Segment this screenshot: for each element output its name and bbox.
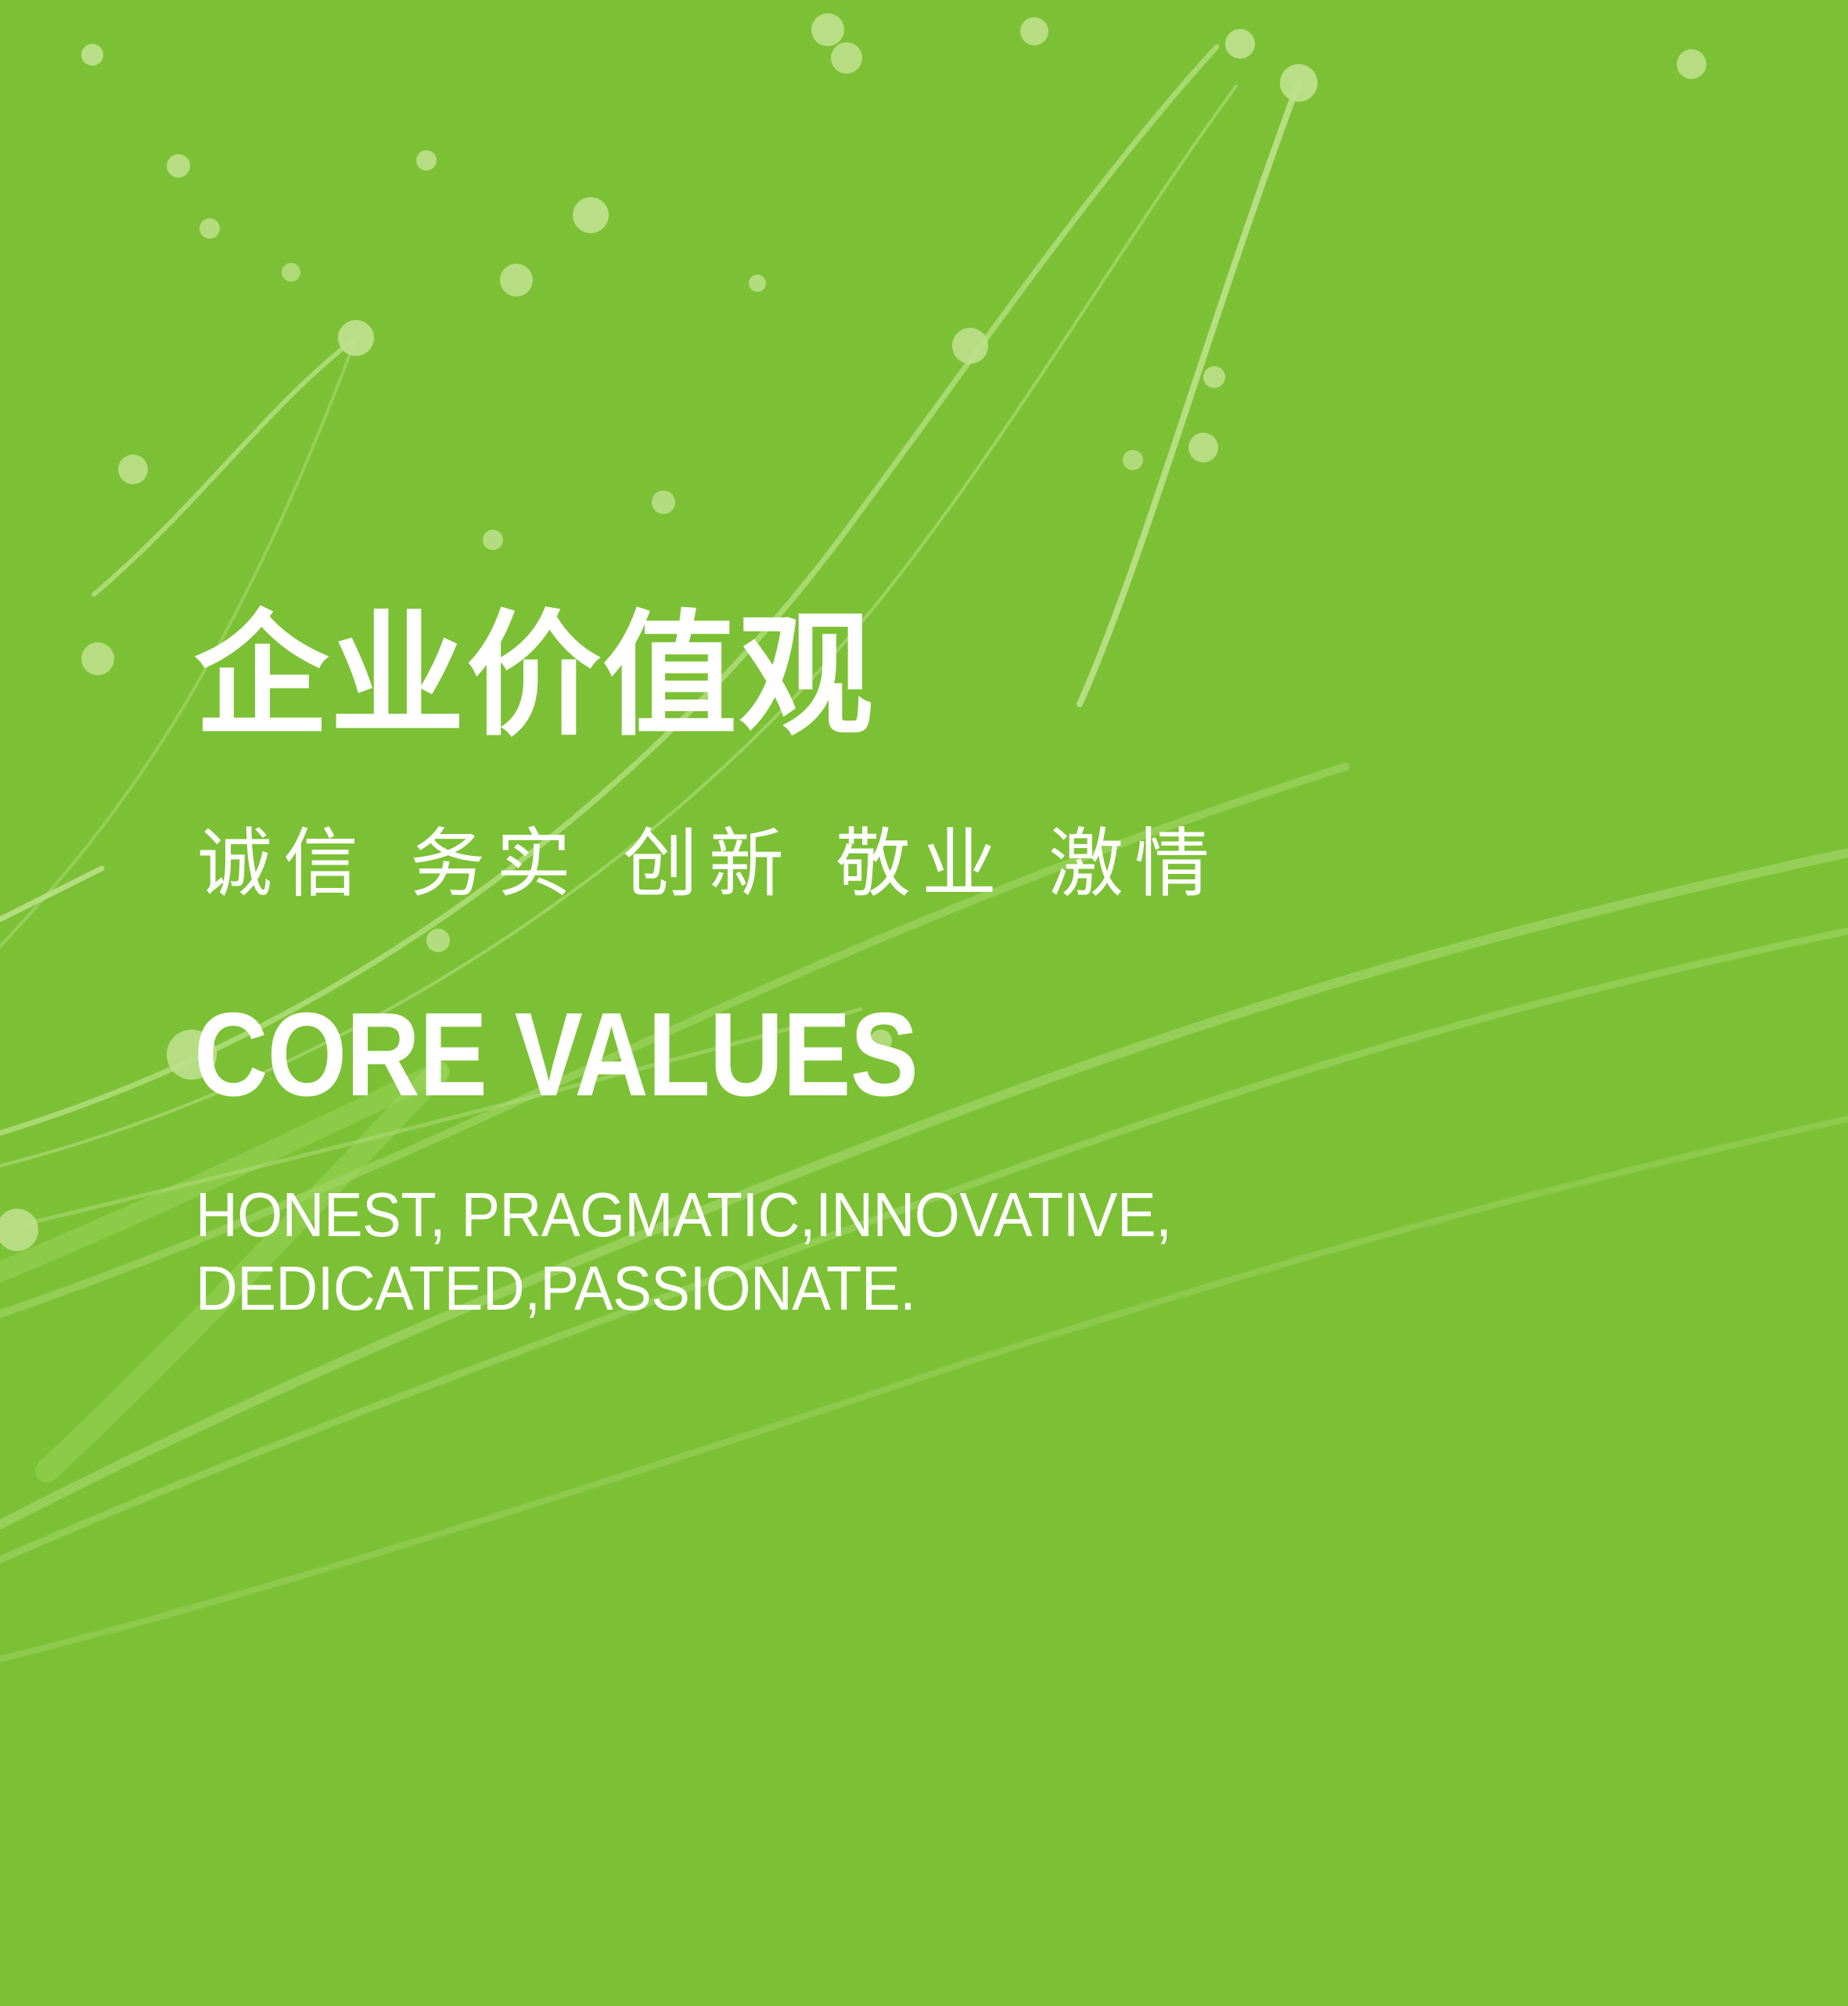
page-title-chinese: 企业价值观	[194, 609, 875, 743]
values-english: HONEST, PRAGMATIC,INNOVATIVE, DEDICATED,…	[196, 1178, 1171, 1325]
values-english-line-2: DEDICATED,PASSIONATE.	[196, 1252, 1171, 1325]
page-title-english: CORE VALUES	[194, 995, 918, 1114]
values-chinese: 诚信务实创新敬业激情	[197, 826, 1221, 901]
poster-canvas: 企业价值观 诚信务实创新敬业激情 CORE VALUES HONEST, PRA…	[0, 0, 1848, 2006]
values-english-line-1: HONEST, PRAGMATIC,INNOVATIVE,	[196, 1178, 1171, 1252]
value-chinese-5: 激情	[1048, 820, 1221, 908]
value-chinese-4: 敬业	[836, 820, 1008, 908]
value-chinese-2: 务实	[410, 820, 582, 908]
value-chinese-1: 诚信	[197, 820, 369, 908]
value-chinese-3: 创新	[623, 820, 795, 908]
